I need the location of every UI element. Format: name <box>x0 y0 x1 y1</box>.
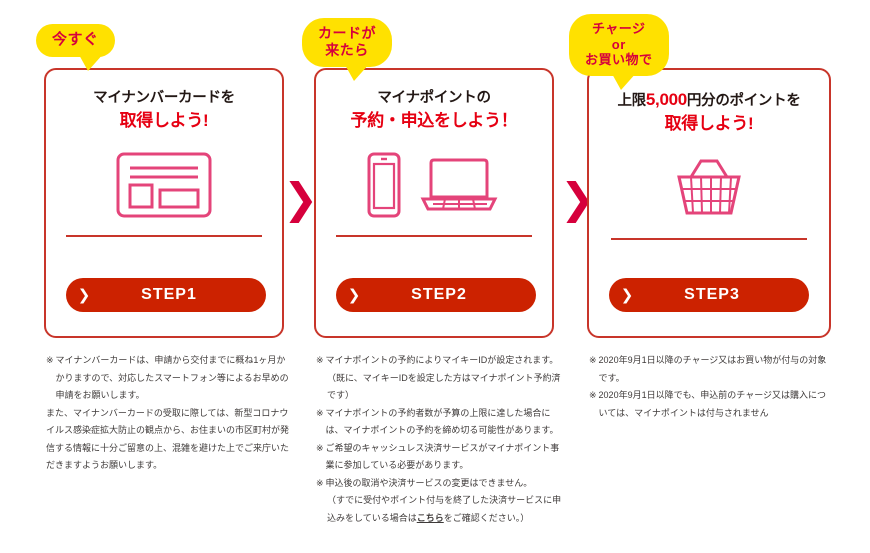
note-mark: ※ <box>316 352 324 370</box>
step-1-bubble: 今すぐ <box>36 24 115 57</box>
note-text: （すでに受付やポイント付与を終了した決済サービスに申込みをしている場合はこちらを… <box>327 492 564 527</box>
note-mark: ※ <box>589 387 597 422</box>
laptop-icon <box>417 155 501 215</box>
step-1-button-label: STEP1 <box>102 286 266 304</box>
note-text: 申込後の取消や決済サービスの変更はできません。 <box>326 475 564 493</box>
note-text: 2020年9月1日以降のチャージ又はお買い物が付与の対象です。 <box>599 352 835 387</box>
kochira-link[interactable]: こちら <box>417 513 444 523</box>
step-3-title: 上限5,000円分のポイントを 取得しよう! <box>589 88 829 136</box>
note-mark: ※ <box>316 405 324 440</box>
step-3-bubble: チャージ or お買い物で <box>569 14 669 76</box>
note-item: （既に、マイキーIDを設定した方はマイナポイント予約済です） <box>316 370 564 405</box>
steps-board: 今すぐ マイナンバーカードを 取得しよう! <box>0 0 870 553</box>
title-prefix: 上限 <box>617 93 645 109</box>
note-mark: ※ <box>316 440 324 475</box>
note-item-with-link: （すでに受付やポイント付与を終了した決済サービスに申込みをしている場合はこちらを… <box>316 492 564 527</box>
note-item: また、マイナンバーカードの受取に際しては、新型コロナウイルス感染症拡大防止の観点… <box>46 405 294 475</box>
step-1-title-top: マイナンバーカードを <box>52 88 276 109</box>
note-text: また、マイナンバーカードの受取に際しては、新型コロナウイルス感染症拡大防止の観点… <box>46 405 294 475</box>
note-text: マイナンバーカードは、申請から交付までに概ね1ヶ月かかりますので、対応したスマー… <box>56 352 294 405</box>
step-1-button[interactable]: ❯ STEP1 <box>66 278 266 312</box>
note-item: ※ マイナポイントの予約によりマイキーIDが設定されます。 <box>316 352 564 370</box>
note-item: ※ 2020年9月1日以降でも、申込前のチャージ又は購入については、マイナポイン… <box>589 387 835 422</box>
step-2-title: マイナポイントの 予約・申込をしよう！ <box>316 88 552 133</box>
note-text: ご希望のキャッシュレス決済サービスがマイナポイント事業に参加している必要がありま… <box>326 440 564 475</box>
step-2-title-top: マイナポイントの <box>322 88 546 109</box>
step-1-divider <box>66 235 262 237</box>
step-2-notes: ※ マイナポイントの予約によりマイキーIDが設定されます。 （既に、マイキーID… <box>316 352 564 527</box>
note-mark: ※ <box>316 475 324 493</box>
title-suffix: 円分のポイントを <box>687 93 801 109</box>
step-column-1: 今すぐ マイナンバーカードを 取得しよう! <box>28 0 298 553</box>
note-item: ※ マイナンバーカードは、申請から交付までに概ね1ヶ月かかりますので、対応したス… <box>46 352 294 405</box>
step-2-button-label: STEP2 <box>372 286 536 304</box>
points-amount: 5,000 <box>646 90 687 109</box>
step-3-icon-area <box>589 142 829 234</box>
note-item: ※ マイナポイントの予約者数が予算の上限に達した場合には、マイナポイントの予約を… <box>316 405 564 440</box>
step-3-button-label: STEP3 <box>645 286 809 304</box>
note-text-after: をご確認ください。） <box>444 513 530 523</box>
step-3-title-main: 取得しよう! <box>595 112 823 136</box>
note-text: マイナポイントの予約者数が予算の上限に達した場合には、マイナポイントの予約を締め… <box>326 405 564 440</box>
note-item: ※ ご希望のキャッシュレス決済サービスがマイナポイント事業に参加している必要があ… <box>316 440 564 475</box>
step-1-title: マイナンバーカードを 取得しよう! <box>46 88 282 133</box>
step-2-card: マイナポイントの 予約・申込をしよう！ <box>314 68 554 338</box>
step-1-card: マイナンバーカードを 取得しよう! ❯ STEP1 <box>44 68 284 338</box>
step-2-title-main: 予約・申込をしよう！ <box>322 109 546 133</box>
step-1-notes: ※ マイナンバーカードは、申請から交付までに概ね1ヶ月かかりますので、対応したス… <box>46 352 294 475</box>
shopping-basket-icon <box>669 157 749 219</box>
note-mark: ※ <box>589 352 597 387</box>
step-3-card: 上限5,000円分のポイントを 取得しよう! <box>587 68 831 338</box>
step-3-notes: ※ 2020年9月1日以降のチャージ又はお買い物が付与の対象です。 ※ 2020… <box>589 352 835 422</box>
step-3-button[interactable]: ❯ STEP3 <box>609 278 809 312</box>
smartphone-icon <box>367 152 401 218</box>
note-text: 2020年9月1日以降でも、申込前のチャージ又は購入については、マイナポイントは… <box>599 387 835 422</box>
step-2-icon-area <box>316 139 552 231</box>
step-column-2: カードが 来たら マイナポイントの 予約・申込をしよう！ <box>298 0 568 553</box>
chevron-right-icon: ❯ <box>66 288 102 303</box>
id-card-icon <box>116 152 212 218</box>
chevron-right-icon: ❯ <box>336 288 372 303</box>
note-mark: ※ <box>46 352 54 405</box>
step-2-divider <box>336 235 532 237</box>
chevron-right-icon: ❯ <box>609 288 645 303</box>
step-1-icon-area <box>46 139 282 231</box>
note-item: ※ 2020年9月1日以降のチャージ又はお買い物が付与の対象です。 <box>589 352 835 387</box>
step-2-button[interactable]: ❯ STEP2 <box>336 278 536 312</box>
note-text: （既に、マイキーIDを設定した方はマイナポイント予約済です） <box>327 370 564 405</box>
step-1-title-main: 取得しよう! <box>52 109 276 133</box>
step-2-bubble: カードが 来たら <box>302 18 392 67</box>
step-3-title-top: 上限5,000円分のポイントを <box>595 88 823 112</box>
note-text: マイナポイントの予約によりマイキーIDが設定されます。 <box>326 352 564 370</box>
step-3-divider <box>611 238 807 240</box>
note-item: ※ 申込後の取消や決済サービスの変更はできません。 <box>316 475 564 493</box>
step-column-3: チャージ or お買い物で 上限5,000円分のポイントを 取得しよう! <box>565 0 835 553</box>
